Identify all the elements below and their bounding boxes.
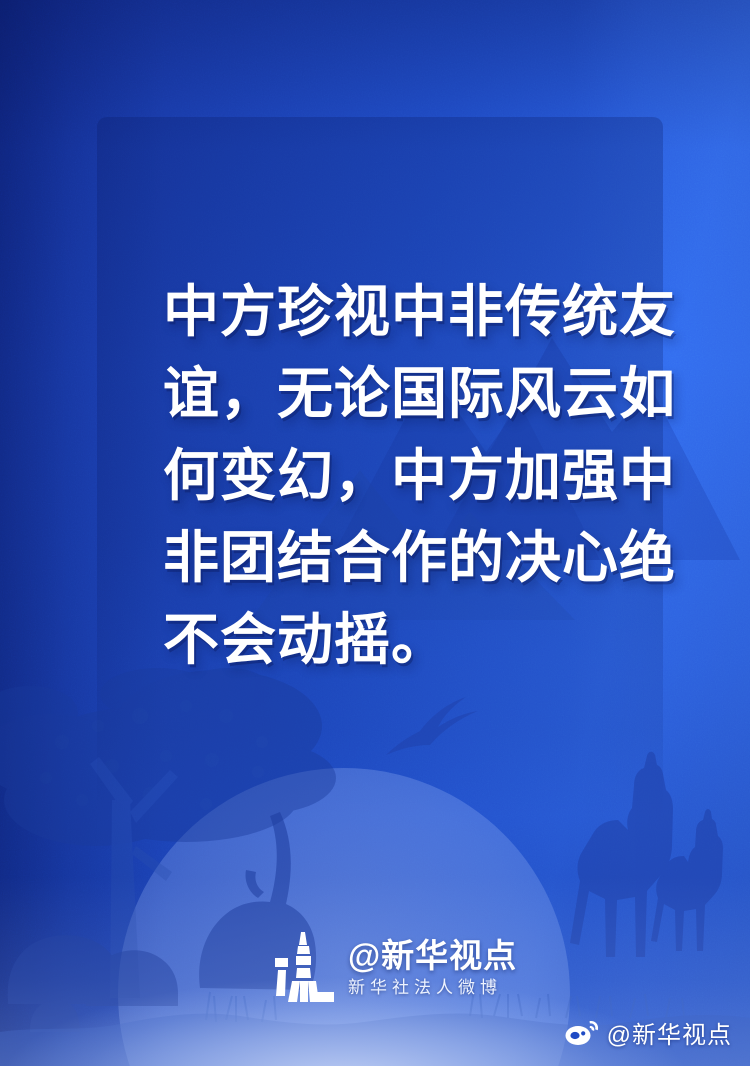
weibo-handle: @新华视点 — [607, 1015, 732, 1050]
xinhua-brand-lockup: @新华视点 新华社法人微博 — [272, 932, 517, 1002]
xinhua-tower-logo-icon — [272, 932, 336, 1002]
headline-line-4: 非团结合作的决心绝 — [163, 518, 603, 600]
brand-text: @新华视点 新华社法人微博 — [348, 939, 517, 996]
headline-line-2: 谊，无论国际风云如 — [163, 354, 603, 436]
weibo-watermark: @新华视点 — [565, 1015, 732, 1050]
headline-line-5: 不会动摇。 — [163, 600, 603, 682]
poster-canvas: 中方珍视中非传统友 谊，无论国际风云如 何变幻，中方加强中 非团结合作的决心绝 … — [0, 0, 750, 1066]
weibo-icon — [565, 1020, 599, 1046]
bird-in-flight-icon — [386, 697, 478, 755]
headline-quote: 中方珍视中非传统友 谊，无论国际风云如 何变幻，中方加强中 非团结合作的决心绝 … — [163, 272, 603, 682]
headline-line-3: 何变幻，中方加强中 — [163, 436, 603, 518]
brand-name: @新华视点 — [348, 939, 517, 972]
brand-tagline: 新华社法人微博 — [348, 979, 517, 996]
headline-line-1: 中方珍视中非传统友 — [163, 272, 603, 354]
